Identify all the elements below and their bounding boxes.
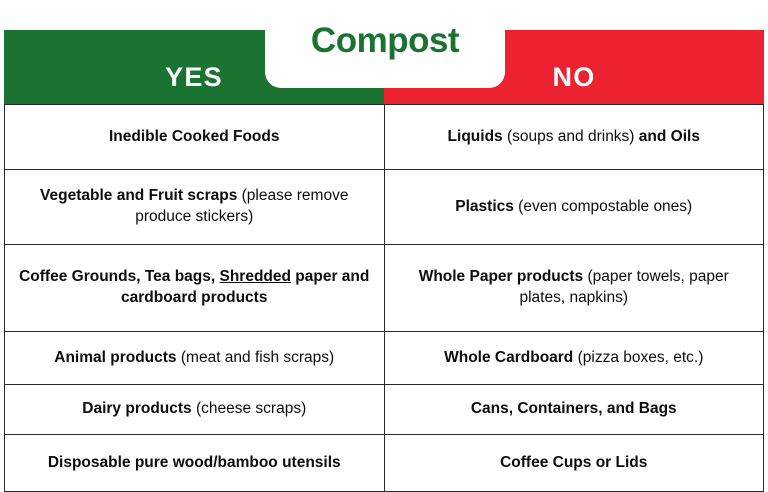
compost-rules-table: Inedible Cooked Foods Liquids (soups and…	[4, 104, 764, 492]
cell-no: Whole Cardboard (pizza boxes, etc.)	[384, 332, 764, 385]
cell-yes: Dairy products (cheese scraps)	[5, 385, 385, 435]
text-segment: Whole Cardboard	[444, 349, 577, 366]
text-segment: Inedible Cooked Foods	[109, 128, 280, 145]
cell-no: Liquids (soups and drinks) and Oils	[384, 105, 764, 170]
text-segment: Liquids	[448, 128, 507, 145]
text-segment: (cheese scraps)	[196, 400, 306, 417]
text-segment: Plastics	[455, 198, 518, 215]
table-row: Coffee Grounds, Tea bags, Shredded paper…	[5, 245, 764, 332]
text-segment: Shredded	[220, 268, 291, 285]
title-tab: Compost	[265, 18, 505, 88]
text-segment: (soups and drinks)	[507, 128, 639, 145]
table-row: Inedible Cooked Foods Liquids (soups and…	[5, 105, 764, 170]
table-row: Vegetable and Fruit scraps (please remov…	[5, 170, 764, 245]
text-segment: (pizza boxes, etc.)	[578, 349, 704, 366]
cell-yes: Animal products (meat and fish scraps)	[5, 332, 385, 385]
cell-no: Coffee Cups or Lids	[384, 435, 764, 492]
cell-yes: Disposable pure wood/bamboo utensils	[5, 435, 385, 492]
cell-no: Whole Paper products (paper towels, pape…	[384, 245, 764, 332]
header-label-no: NO	[553, 64, 596, 91]
text-segment: Cans, Containers, and Bags	[471, 400, 677, 417]
cell-yes: Inedible Cooked Foods	[5, 105, 385, 170]
table-row: Animal products (meat and fish scraps) W…	[5, 332, 764, 385]
text-segment: and Oils	[639, 128, 700, 145]
text-segment: Vegetable and Fruit scraps	[40, 187, 242, 204]
table-row: Dairy products (cheese scraps) Cans, Con…	[5, 385, 764, 435]
text-segment: (meat and fish scraps)	[181, 349, 334, 366]
text-segment: Animal products	[54, 349, 181, 366]
text-segment: Dairy products	[82, 400, 196, 417]
cell-yes: Coffee Grounds, Tea bags, Shredded paper…	[5, 245, 385, 332]
text-segment: Coffee Cups or Lids	[500, 454, 647, 471]
table-row: Disposable pure wood/bamboo utensils Cof…	[5, 435, 764, 492]
cell-yes: Vegetable and Fruit scraps (please remov…	[5, 170, 385, 245]
cell-no: Plastics (even compostable ones)	[384, 170, 764, 245]
table-body: Inedible Cooked Foods Liquids (soups and…	[5, 105, 764, 492]
text-segment: Coffee Grounds, Tea bags,	[19, 268, 219, 285]
text-segment: Whole Paper products	[419, 268, 588, 285]
text-segment: (even compostable ones)	[518, 198, 692, 215]
text-segment: Disposable pure wood/bamboo utensils	[48, 454, 341, 471]
page-title: Compost	[311, 23, 459, 58]
compost-guide-poster: YES NO Compost Inedible Cooked Foods Liq…	[0, 0, 768, 480]
cell-no: Cans, Containers, and Bags	[384, 385, 764, 435]
header-label-yes: YES	[165, 64, 223, 91]
